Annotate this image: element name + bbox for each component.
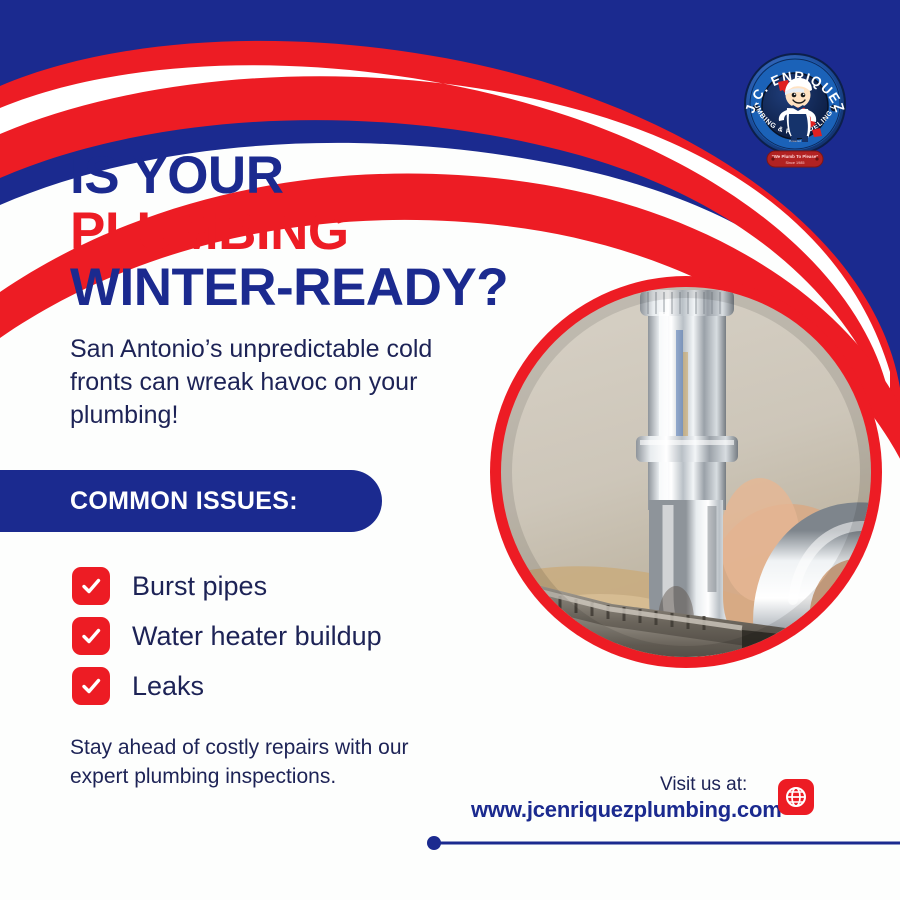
headline-line-2: PLUMBING xyxy=(70,204,590,260)
check-icon xyxy=(72,567,110,605)
list-item-label: Water heater buildup xyxy=(132,621,382,651)
list-item: Leaks xyxy=(72,661,382,711)
common-issues-list: Burst pipes Water heater buildup Leaks xyxy=(72,561,382,711)
headline: IS YOUR PLUMBING WINTER-READY? xyxy=(70,148,590,316)
list-item-label: Leaks xyxy=(132,671,204,701)
check-icon xyxy=(72,667,110,705)
list-item: Water heater buildup xyxy=(72,611,382,661)
poster-canvas: J.C. ENRIQUEZ PLUMBING & REMODELING LLC xyxy=(0,0,900,900)
footer-rule xyxy=(425,836,900,850)
globe-icon xyxy=(778,779,814,815)
logo-micro-text: Powered xyxy=(789,139,801,143)
common-issues-banner: COMMON ISSUES: xyxy=(0,470,382,532)
subtitle-text: San Antonio’s unpredictable cold fronts … xyxy=(70,333,475,432)
headline-line-3: WINTER-READY? xyxy=(70,260,590,316)
common-issues-label: COMMON ISSUES: xyxy=(70,487,298,516)
list-item: Burst pipes xyxy=(72,561,382,611)
headline-line-1: IS YOUR xyxy=(70,148,590,204)
check-icon xyxy=(72,617,110,655)
logo-ribbon: "We Plumb To Please" Since 1985 xyxy=(767,151,823,167)
logo-ribbon-line2: Since 1985 xyxy=(786,161,805,165)
closing-text: Stay ahead of costly repairs with our ex… xyxy=(70,733,470,791)
visit-us-label: Visit us at: xyxy=(660,774,747,796)
website-url[interactable]: www.jcenriquezplumbing.com xyxy=(471,797,782,823)
jc-enriquez-logo: J.C. ENRIQUEZ PLUMBING & REMODELING LLC xyxy=(740,52,850,170)
logo-ribbon-line1: "We Plumb To Please" xyxy=(772,154,819,159)
list-item-label: Burst pipes xyxy=(132,571,267,601)
footer-rule-dot xyxy=(427,836,441,850)
